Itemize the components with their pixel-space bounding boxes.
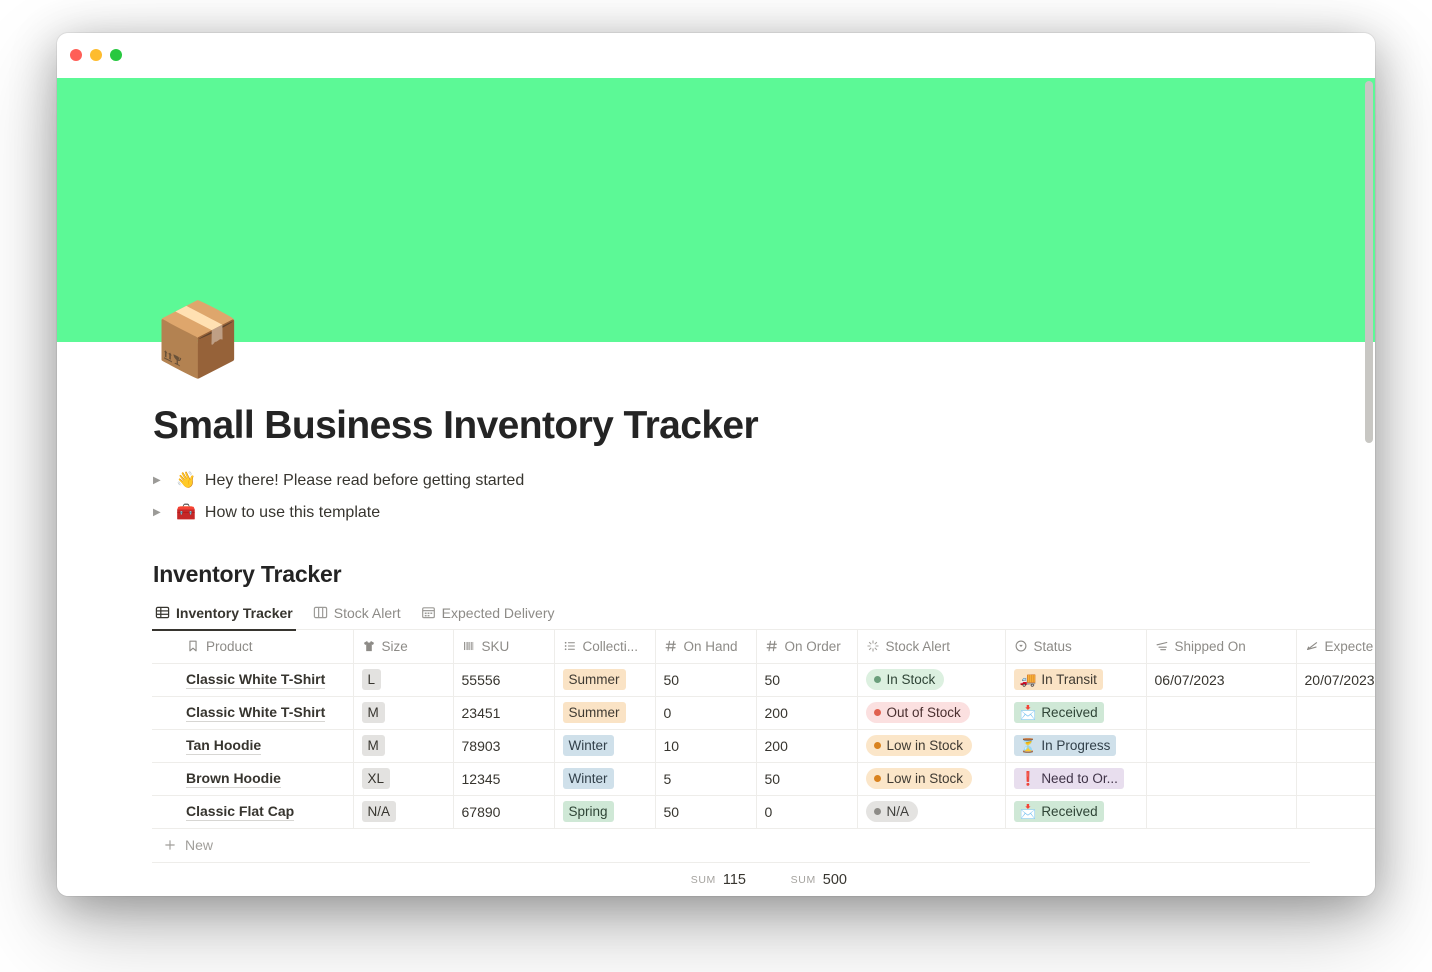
vertical-scrollbar-thumb[interactable] [1365,81,1373,443]
select-icon [1014,639,1028,653]
cell-shipped-on[interactable] [1146,762,1296,795]
window-titlebar [57,33,1375,78]
calendar-icon [421,605,436,620]
cell-stock-alert[interactable]: Out of Stock [857,696,1005,729]
table-row[interactable]: Brown Hoodie XL 12345 Winter [152,762,1375,795]
status-badge: 🚚 In Transit [1014,669,1103,690]
cell-size[interactable]: N/A [353,795,453,828]
tshirt-icon [362,639,376,653]
table-row[interactable]: Classic White T-Shirt M 23451 Summer [152,696,1375,729]
cell-on-hand[interactable]: 0 [655,696,756,729]
row-title-link[interactable]: Brown Hoodie [186,770,281,788]
page-icon[interactable]: 📦 [153,304,243,376]
stock-alert-label: Low in Stock [887,737,964,754]
size-tag: XL [362,768,391,789]
row-title-link[interactable]: Tan Hoodie [186,737,261,755]
traffic-lights [70,49,122,61]
toggle-block-intro[interactable]: ▶ 👋 Hey there! Please read before gettin… [153,465,1375,497]
collection-tag: Spring [563,801,614,822]
stock-alert-badge: In Stock [866,669,945,690]
cell-sku[interactable]: 78903 [453,729,554,762]
summary-label: SUM [691,874,716,886]
plus-icon [163,838,177,852]
chevron-right-icon[interactable]: ▶ [153,508,167,518]
column-header-stock-alert[interactable]: Stock Alert [857,630,1005,663]
cell-on-hand[interactable]: 5 [655,762,756,795]
cell-sku[interactable]: 55556 [453,663,554,696]
column-header-on-hand[interactable]: On Hand [655,630,756,663]
status-badge: ⏳ In Progress [1014,735,1117,756]
cell-status[interactable]: 📩 Received [1005,696,1146,729]
size-tag: N/A [362,801,397,822]
toggle-block-howto[interactable]: ▶ 🧰 How to use this template [153,497,1375,529]
status-dot-icon [874,709,881,716]
column-label: Stock Alert [886,639,951,654]
cell-on-order[interactable]: 0 [756,795,857,828]
column-label: Size [382,639,408,654]
cell-stock-alert[interactable]: Low in Stock [857,729,1005,762]
column-header-on-order[interactable]: On Order [756,630,857,663]
cell-shipped-on[interactable] [1146,696,1296,729]
cell-collection[interactable]: Winter [554,729,655,762]
size-tag: M [362,702,385,723]
cell-product[interactable]: Classic White T-Shirt [152,696,353,729]
tab-label: Expected Delivery [442,605,555,621]
stock-alert-label: Out of Stock [887,704,961,721]
database-view-tabs: Inventory Tracker Stock Alert [152,596,1375,630]
cell-sku[interactable]: 12345 [453,762,554,795]
database-title: Inventory Tracker [153,561,1375,588]
cell-on-hand[interactable]: 50 [655,663,756,696]
cell-sku[interactable]: 67890 [453,795,554,828]
horizontal-scrollbar[interactable] [304,894,1375,897]
cell-collection[interactable]: Spring [554,795,655,828]
toggle-label: Hey there! Please read before getting st… [205,472,524,490]
size-tag: L [362,669,382,690]
minimize-button[interactable] [90,49,102,61]
toolbox-emoji-icon: 🧰 [176,505,196,521]
status-badge: ❗ Need to Or... [1014,768,1124,789]
page-cover-image [57,78,1375,342]
vertical-scrollbar-track[interactable] [1364,78,1375,896]
date-icon [1305,639,1319,653]
summary-on-hand[interactable]: SUM 115 [654,863,755,897]
summary-value: 500 [823,872,847,888]
cell-size[interactable]: XL [353,762,453,795]
chevron-right-icon[interactable]: ▶ [153,476,167,486]
tab-label: Inventory Tracker [176,605,293,621]
zoom-button[interactable] [110,49,122,61]
row-title-link[interactable]: Classic White T-Shirt [186,671,325,689]
date-icon [1155,639,1169,653]
size-tag: M [362,735,385,756]
column-label: Product [206,639,253,654]
column-header-shipped-on[interactable]: Shipped On [1146,630,1296,663]
column-header-product[interactable]: Product [152,630,353,663]
column-label: SKU [482,639,510,654]
cell-size[interactable]: L [353,663,453,696]
bookmark-icon [186,639,200,653]
cell-product[interactable]: Classic Flat Cap [152,795,353,828]
page-scroll-area[interactable]: 📦 Small Business Inventory Tracker ▶ 👋 H… [57,78,1375,896]
app-window: 📦 Small Business Inventory Tracker ▶ 👋 H… [57,33,1375,896]
cell-size[interactable]: M [353,696,453,729]
cell-stock-alert[interactable]: In Stock [857,663,1005,696]
cell-size[interactable]: M [353,729,453,762]
cell-shipped-on[interactable]: 06/07/2023 [1146,663,1296,696]
new-row-label: New [185,837,213,853]
cell-on-order[interactable]: 50 [756,663,857,696]
column-label: On Hand [684,639,738,654]
column-label: Collecti... [583,639,639,654]
stock-alert-badge: Low in Stock [866,735,973,756]
cell-collection[interactable]: Winter [554,762,655,795]
table-row[interactable]: Classic Flat Cap N/A 67890 Spring [152,795,1375,828]
table-icon [155,605,170,620]
cell-status[interactable]: 🚚 In Transit [1005,663,1146,696]
table-header-row: Product Size [152,630,1375,663]
column-label: Shipped On [1175,639,1246,654]
wave-emoji-icon: 👋 [176,473,196,489]
collection-tag: Winter [563,735,614,756]
status-label: In Transit [1041,671,1097,688]
status-label: In Progress [1041,737,1110,754]
tab-inventory-tracker[interactable]: Inventory Tracker [152,596,296,630]
stock-alert-badge: Low in Stock [866,768,973,789]
inbox-emoji-icon: 📩 [1020,704,1037,721]
column-header-status[interactable]: Status [1005,630,1146,663]
cell-collection[interactable]: Summer [554,663,655,696]
collection-tag: Winter [563,768,614,789]
stock-alert-badge: N/A [866,801,919,822]
tab-stock-alert[interactable]: Stock Alert [310,596,404,630]
stock-alert-badge: Out of Stock [866,702,970,723]
cell-product[interactable]: Brown Hoodie [152,762,353,795]
table-row[interactable]: Classic White T-Shirt L 55556 Summer [152,663,1375,696]
status-dot-icon [874,808,881,815]
stock-alert-label: Low in Stock [887,770,964,787]
cell-on-hand[interactable]: 50 [655,795,756,828]
cell-status[interactable]: ❗ Need to Or... [1005,762,1146,795]
number-icon [664,639,678,653]
cell-collection[interactable]: Summer [554,696,655,729]
desktop-backdrop: 📦 Small Business Inventory Tracker ▶ 👋 H… [0,0,1432,972]
database-table: Product Size [152,630,1375,896]
add-new-row-button[interactable]: New [152,829,1310,863]
status-badge: 📩 Received [1014,702,1104,723]
cell-on-order[interactable]: 200 [756,696,857,729]
cell-shipped-on[interactable] [1146,795,1296,828]
cell-shipped-on[interactable] [1146,729,1296,762]
cell-on-order[interactable]: 50 [756,762,857,795]
formula-icon [866,639,880,653]
cell-product[interactable]: Tan Hoodie [152,729,353,762]
stock-alert-label: In Stock [887,671,936,688]
row-title-link[interactable]: Classic White T-Shirt [186,704,325,722]
toggle-label: How to use this template [205,504,380,522]
status-label: Received [1041,803,1097,820]
cell-sku[interactable]: 23451 [453,696,554,729]
column-label: On Order [785,639,841,654]
column-header-size[interactable]: Size [353,630,453,663]
cell-on-order[interactable]: 200 [756,729,857,762]
collection-tag: Summer [563,702,626,723]
status-dot-icon [874,775,881,782]
list-icon [563,639,577,653]
summary-value: 115 [723,872,746,888]
hourglass-emoji-icon: ⏳ [1020,737,1037,754]
page-body: 📦 Small Business Inventory Tracker ▶ 👋 H… [57,342,1375,896]
cell-product[interactable]: Classic White T-Shirt [152,663,353,696]
close-button[interactable] [70,49,82,61]
cell-stock-alert[interactable]: N/A [857,795,1005,828]
status-label: Need to Or... [1041,770,1118,787]
exclamation-emoji-icon: ❗ [1020,770,1037,787]
column-header-collection[interactable]: Collecti... [554,630,655,663]
summary-on-order[interactable]: SUM 500 [755,863,856,897]
board-icon [313,605,328,620]
table-row[interactable]: Tan Hoodie M 78903 Winter 10 [152,729,1375,762]
summary-label: SUM [791,874,816,886]
stock-alert-label: N/A [887,803,910,820]
row-title-link[interactable]: Classic Flat Cap [186,803,294,821]
column-label: Status [1034,639,1072,654]
truck-emoji-icon: 🚚 [1020,671,1037,688]
status-label: Received [1041,704,1097,721]
cell-stock-alert[interactable]: Low in Stock [857,762,1005,795]
tab-expected-delivery[interactable]: Expected Delivery [418,596,558,630]
inbox-emoji-icon: 📩 [1020,803,1037,820]
table-summary-row: SUM 115 SUM 500 [152,863,1375,897]
barcode-icon [462,639,476,653]
status-dot-icon [874,742,881,749]
collection-tag: Summer [563,669,626,690]
cell-status[interactable]: 📩 Received [1005,795,1146,828]
status-dot-icon [874,676,881,683]
page-title: Small Business Inventory Tracker [153,404,1375,448]
cell-status[interactable]: ⏳ In Progress [1005,729,1146,762]
column-header-sku[interactable]: SKU [453,630,554,663]
tab-label: Stock Alert [334,605,401,621]
cell-on-hand[interactable]: 10 [655,729,756,762]
number-icon [765,639,779,653]
status-badge: 📩 Received [1014,801,1104,822]
